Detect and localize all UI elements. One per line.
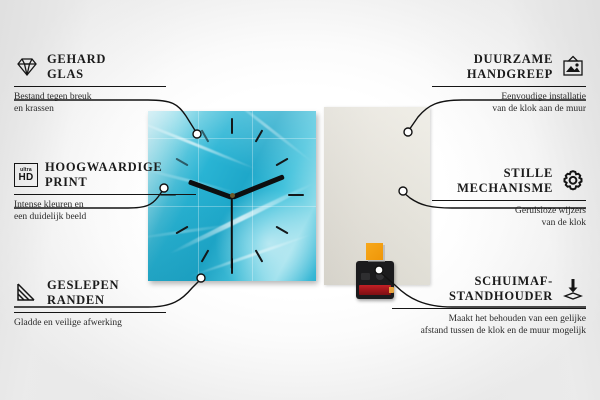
feature-schuimafstandhouder: SCHUIMAF- STANDHOUDER Maakt het behouden… (392, 274, 586, 338)
feature-divider (14, 312, 166, 313)
ultra-hd-big-label: HD (18, 173, 33, 183)
feature-desc-line2: en krassen (14, 103, 166, 116)
feature-title-line2: GLAS (47, 67, 106, 82)
bevel-edges-icon (14, 280, 40, 306)
feature-stille-mechanisme: STILLE MECHANISME Geruisloze wijzers van… (432, 166, 586, 230)
glass-pane-line (198, 111, 199, 281)
glass-pane-line (148, 138, 316, 139)
infographic-stage: GEHARD GLAS Bestand tegen breuk en krass… (0, 0, 600, 400)
feature-title-line2: PRINT (45, 175, 162, 190)
feature-title-line1: GEHARD (47, 52, 106, 67)
feature-header: GEHARD GLAS (14, 52, 166, 83)
feature-desc-line1: Maakt het behouden van een gelijke (392, 313, 586, 326)
feature-title: STILLE MECHANISME (457, 166, 553, 197)
feature-title: GEHARD GLAS (47, 52, 106, 83)
feature-title-line2: RANDEN (47, 293, 119, 308)
feature-description: Bestand tegen breuk en krassen (14, 91, 166, 117)
feature-divider (432, 200, 586, 201)
clock-movement (356, 261, 394, 299)
feature-title-line2: STANDHOUDER (449, 289, 553, 304)
feature-desc-line1: Geruisloze wijzers (432, 205, 586, 218)
diamond-icon (14, 54, 40, 80)
hour-tick-3 (288, 194, 304, 196)
feature-title: HOOGWAARDIGE PRINT (45, 160, 162, 191)
feature-header: SCHUIMAF- STANDHOUDER (392, 274, 586, 305)
feature-title-line1: GESLEPEN (47, 278, 119, 293)
glass-pane-line (252, 111, 253, 281)
second-hand (231, 197, 233, 269)
feature-gehard-glas: GEHARD GLAS Bestand tegen breuk en krass… (14, 52, 166, 116)
feature-divider (432, 86, 586, 87)
feature-description: Maakt het behouden van een gelijke afsta… (392, 313, 586, 339)
movement-knob-b (376, 272, 384, 280)
feature-description: Geruisloze wijzers van de klok (432, 205, 586, 231)
feature-desc-line2: van de klok (432, 217, 586, 230)
hanger-loop-icon (369, 261, 385, 267)
feature-title-line1: HOOGWAARDIGE (45, 160, 162, 175)
feature-description: Eenvoudige installatie van de klok aan d… (432, 91, 586, 117)
feature-desc-line1: Bestand tegen breuk (14, 91, 166, 104)
ultra-hd-icon: ultra HD (14, 163, 38, 187)
battery (359, 285, 391, 295)
feature-title: GESLEPEN RANDEN (47, 278, 119, 309)
feature-title: SCHUIMAF- STANDHOUDER (449, 274, 553, 305)
hour-tick-12 (231, 118, 233, 134)
feature-header: GESLEPEN RANDEN (14, 278, 166, 309)
feature-divider (392, 308, 586, 309)
picture-frame-icon (560, 54, 586, 80)
feature-divider (14, 86, 166, 87)
feature-desc-line2: een duidelijk beeld (14, 211, 196, 224)
feature-header: STILLE MECHANISME (432, 166, 586, 197)
feature-description: Intense kleuren en een duidelijk beeld (14, 199, 196, 225)
feature-title-line2: MECHANISME (457, 181, 553, 196)
feature-duurzame-handgreep: DUURZAME HANDGREEP Eenvoudige installati… (432, 52, 586, 116)
gear-icon (560, 168, 586, 194)
movement-knob-a (361, 273, 370, 280)
foam-spacer-pad (366, 243, 383, 260)
feature-desc-line1: Gladde en veilige afwerking (14, 317, 166, 330)
feature-header: ultra HD HOOGWAARDIGE PRINT (14, 160, 196, 191)
feature-desc-line1: Eenvoudige installatie (432, 91, 586, 104)
feature-divider (14, 194, 196, 195)
feature-title-line1: DUURZAME (467, 52, 553, 67)
feature-desc-line2: van de klok aan de muur (432, 103, 586, 116)
feature-description: Gladde en veilige afwerking (14, 317, 166, 330)
press-down-icon (560, 276, 586, 302)
feature-hoogwaardige-print: ultra HD HOOGWAARDIGE PRINT Intense kleu… (14, 160, 196, 224)
feature-title-line1: SCHUIMAF- (449, 274, 553, 289)
feature-title-line1: STILLE (457, 166, 553, 181)
feature-desc-line2: afstand tussen de klok en de muur mogeli… (392, 325, 586, 338)
feature-title: DUURZAME HANDGREEP (467, 52, 553, 83)
feature-header: DUURZAME HANDGREEP (432, 52, 586, 83)
clock-center-cap (230, 193, 235, 198)
feature-desc-line1: Intense kleuren en (14, 199, 196, 212)
feature-geslepen-randen: GESLEPEN RANDEN Gladde en veilige afwerk… (14, 278, 166, 329)
feature-title-line2: HANDGREEP (467, 67, 553, 82)
